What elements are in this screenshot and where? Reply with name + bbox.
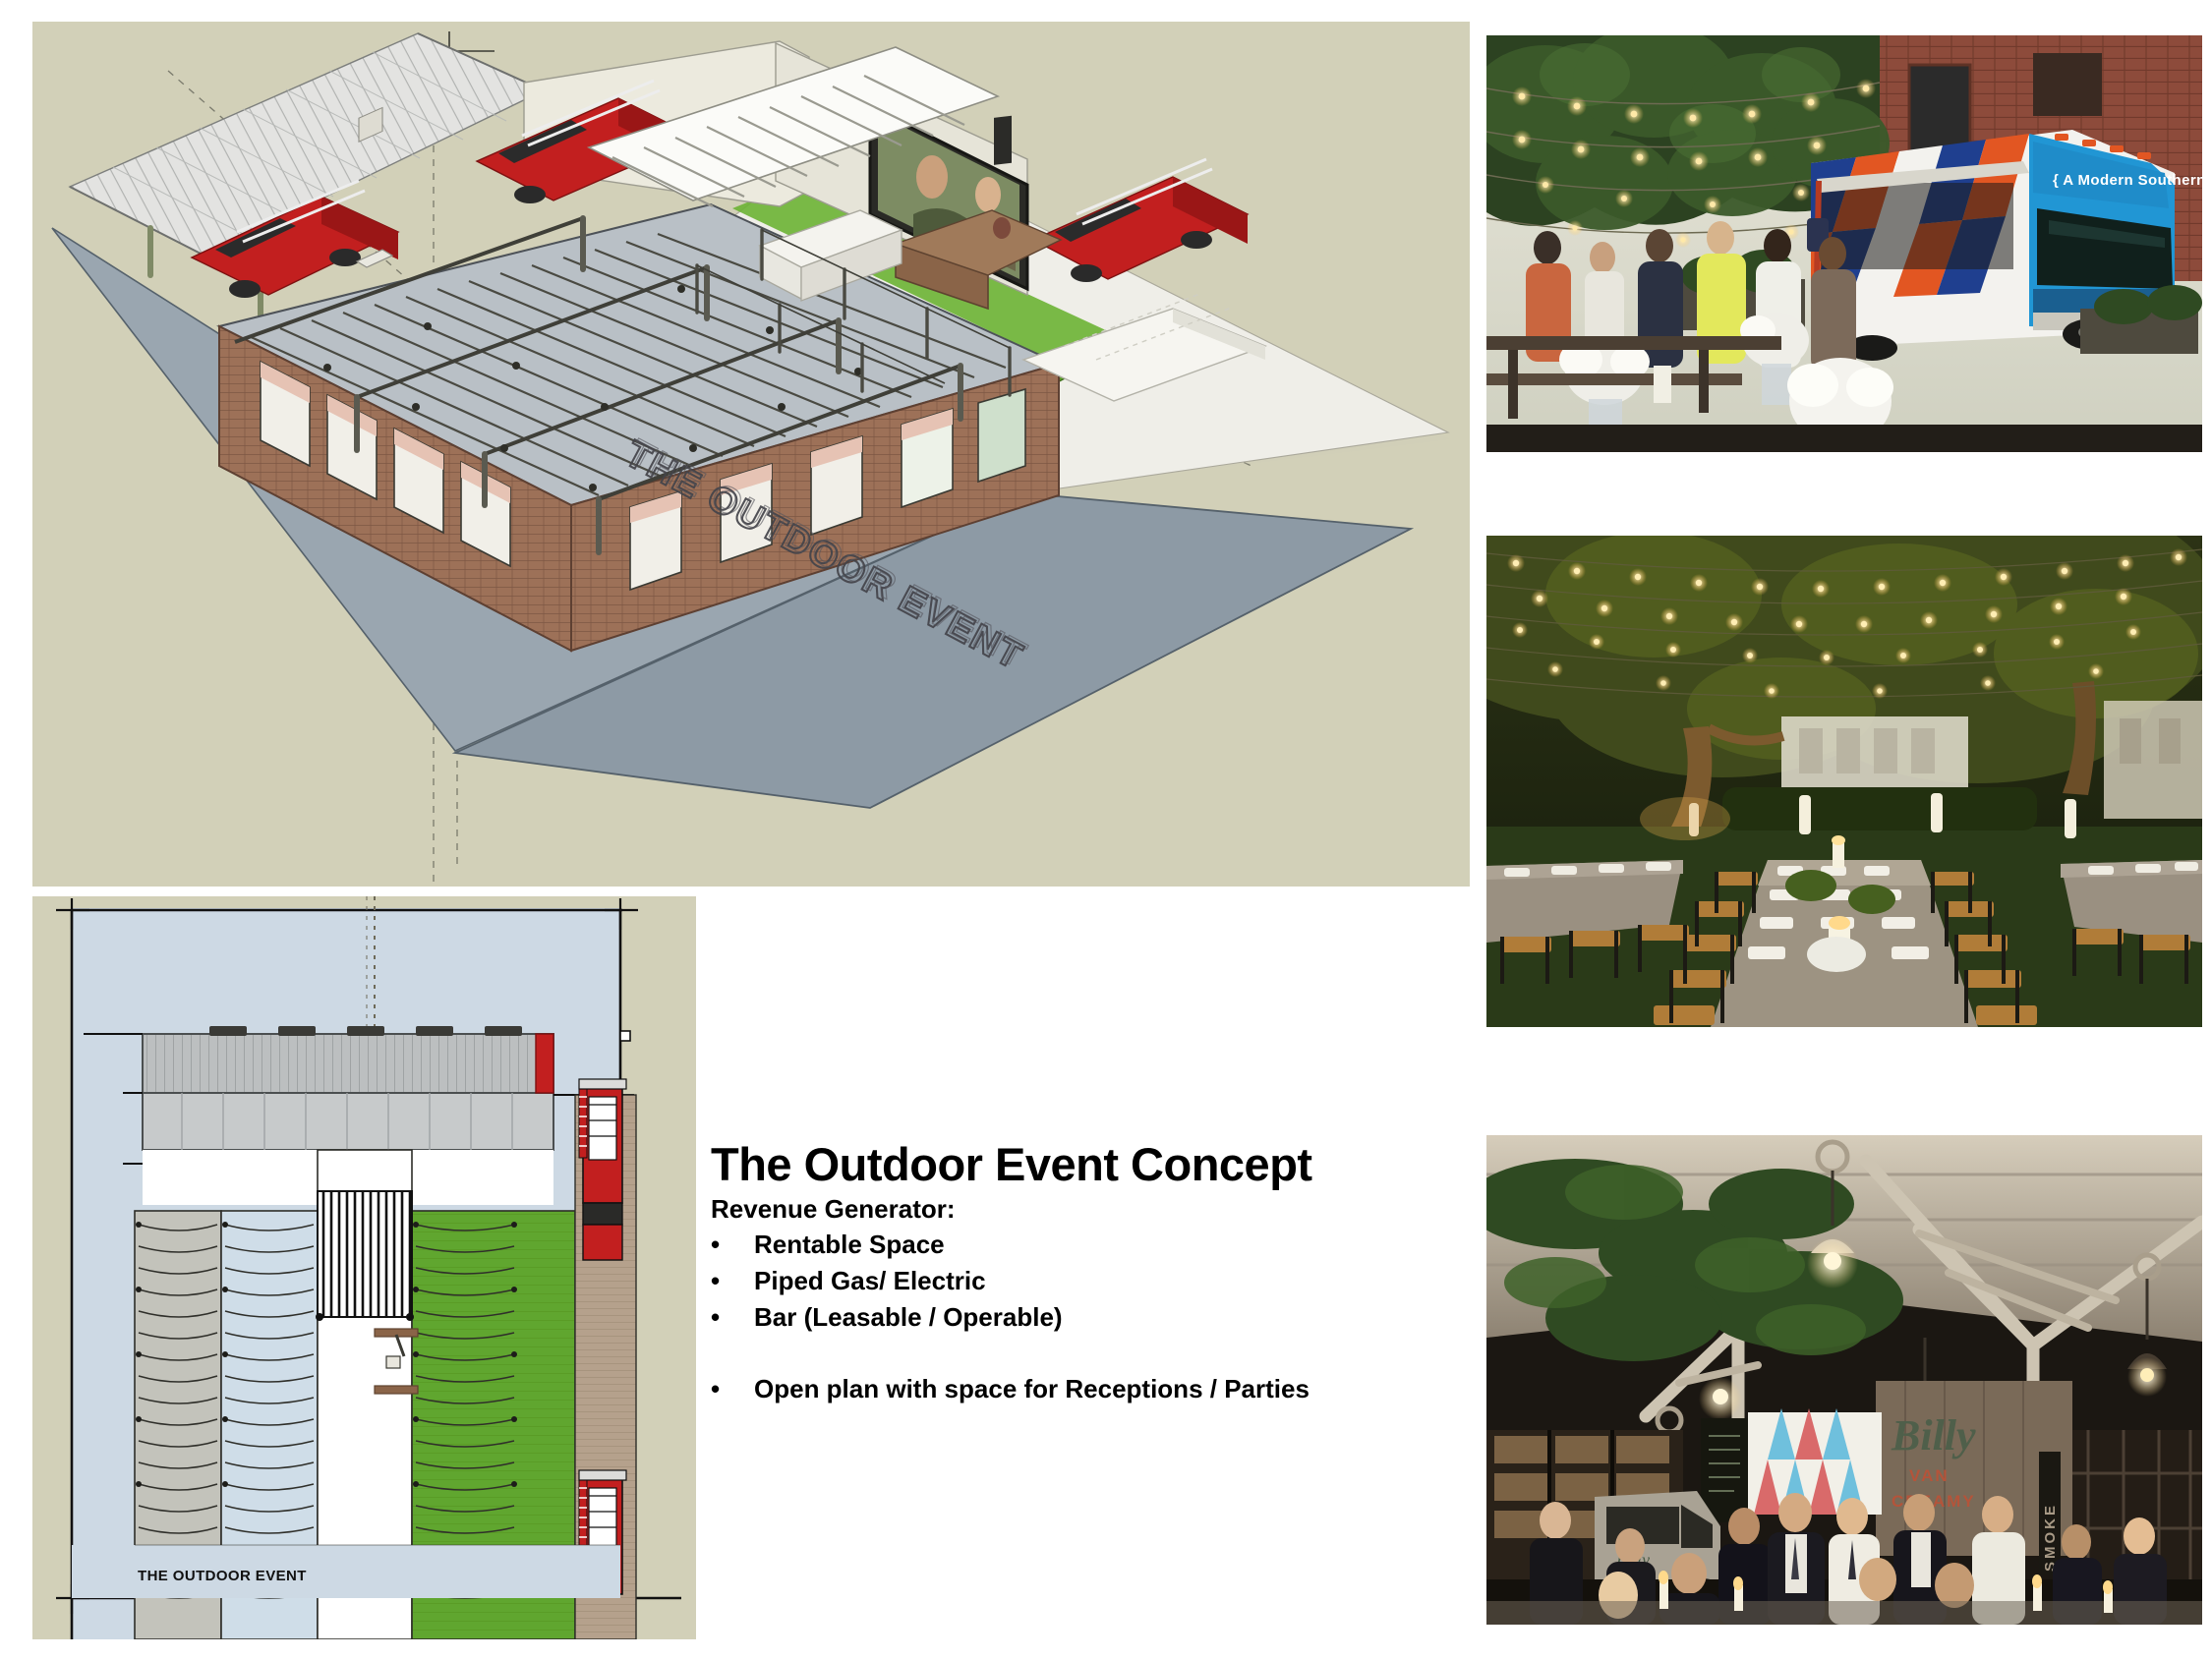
bullet-icon: •: [711, 1371, 754, 1407]
list-item-label: Open plan with space for Receptions / Pa…: [754, 1371, 1310, 1407]
page-title: The Outdoor Event Concept: [711, 1140, 1458, 1188]
outdoor-string-light-dinner-photo: [1486, 536, 2202, 1027]
svg-text:VAN: VAN: [1909, 1466, 1950, 1485]
svg-text:SMOKE: SMOKE: [2042, 1503, 2059, 1572]
list-item-label: Rentable Space: [754, 1227, 945, 1263]
warehouse-reception-photo: Billy VAN CREAMY: [1486, 1135, 2202, 1625]
list-item: • Bar (Leasable / Operable): [711, 1299, 1458, 1336]
bullet-icon: •: [711, 1299, 754, 1336]
list-item: • Open plan with space for Receptions / …: [711, 1371, 1458, 1407]
revenue-bullet-list: • Rentable Space • Piped Gas/ Electric •…: [711, 1227, 1458, 1407]
svg-text:Billy: Billy: [1891, 1411, 1976, 1460]
concept-text-block: The Outdoor Event Concept Revenue Genera…: [711, 1140, 1458, 1407]
floor-plan-drawing: [32, 896, 696, 1639]
svg-text:{ A Modern Southern Eatery }: { A Modern Southern Eatery }: [2053, 172, 2202, 189]
plan-title-label: THE OUTDOOR EVENT: [138, 1568, 307, 1584]
render-illustration: THE OUTDOOR EVENT THE OUTDOOR EVENT: [32, 22, 1470, 887]
list-item-label: Piped Gas/ Electric: [754, 1263, 986, 1299]
bullet-icon: •: [711, 1227, 754, 1263]
list-item: • Rentable Space: [711, 1227, 1458, 1263]
section-subtitle: Revenue Generator:: [711, 1194, 1458, 1225]
floor-plan-panel: [32, 896, 696, 1639]
list-spacer: [711, 1336, 1458, 1371]
list-item-label: Bar (Leasable / Operable): [754, 1299, 1063, 1336]
bullet-icon: •: [711, 1263, 754, 1299]
food-truck-courtyard-photo: { A Modern Southern Eatery }: [1486, 35, 2202, 452]
render-panel: THE OUTDOOR EVENT THE OUTDOOR EVENT: [32, 22, 1470, 887]
list-item: • Piped Gas/ Electric: [711, 1263, 1458, 1299]
